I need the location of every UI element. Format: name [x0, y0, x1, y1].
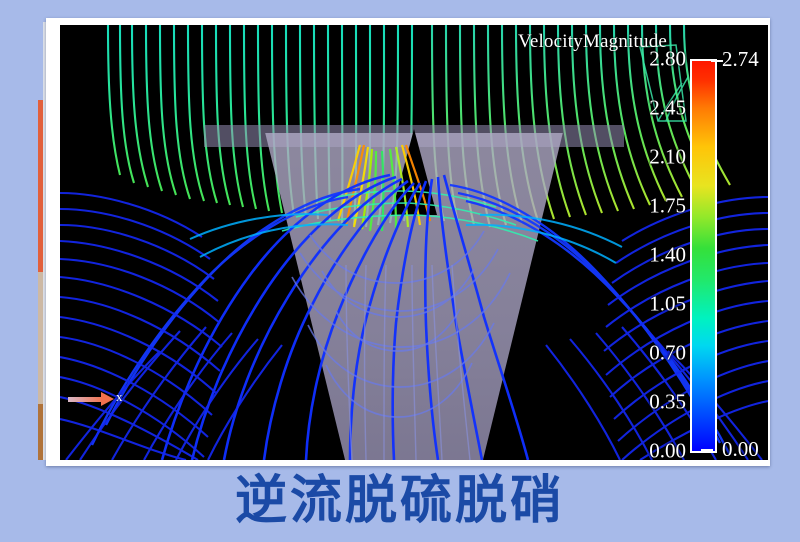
colorbar-tick: 1.40 — [649, 243, 686, 268]
left-scrollbar-track[interactable] — [38, 272, 43, 404]
colorbar-tick-labels: 2.80 2.45 2.10 1.75 1.40 1.05 0.70 0.35 … — [608, 55, 686, 453]
cfd-viewport[interactable]: x VelocityMagnitude 2.80 2.45 2.10 1.75 … — [60, 25, 768, 460]
x-axis-label: x — [116, 389, 123, 405]
colorbar-tick: 2.10 — [649, 145, 686, 170]
colorbar-tick: 2.45 — [649, 96, 686, 121]
colorbar-tick: 0.70 — [649, 341, 686, 366]
left-scrollbar-thumb[interactable] — [38, 100, 43, 272]
x-axis-arrow — [68, 397, 104, 402]
image-frame: x VelocityMagnitude 2.80 2.45 2.10 1.75 … — [46, 18, 770, 466]
colorbar-tick: 1.05 — [649, 292, 686, 317]
left-scrollbar-lower[interactable] — [38, 404, 43, 460]
colorbar-min-tick — [701, 449, 713, 451]
colorbar-max-label: 2.74 — [722, 47, 759, 72]
colorbar-title: VelocityMagnitude — [518, 31, 667, 53]
colorbar-tick: 2.80 — [649, 47, 686, 72]
render-window[interactable]: x VelocityMagnitude 2.80 2.45 2.10 1.75 … — [60, 25, 768, 460]
x-axis-arrowhead — [101, 392, 114, 406]
colorbar-gradient[interactable] — [690, 59, 717, 453]
colorbar-tick: 0.35 — [649, 390, 686, 415]
page-root: x VelocityMagnitude 2.80 2.45 2.10 1.75 … — [0, 0, 800, 542]
colorbar-min-label: 0.00 — [722, 437, 759, 460]
orientation-axis: x — [68, 388, 138, 412]
figure-caption: 逆流脱硫脱硝 — [0, 474, 800, 529]
colorbar-tick: 0.00 — [649, 439, 686, 461]
colorbar-tick: 1.75 — [649, 194, 686, 219]
